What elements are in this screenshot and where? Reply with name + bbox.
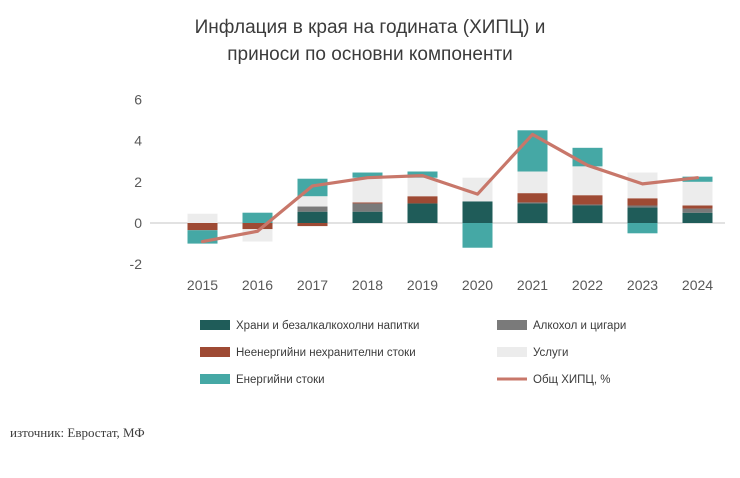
chart-container: Инфлация в края на годината (ХИПЦ) и при… (0, 0, 740, 478)
bar-segment-services (353, 178, 383, 203)
bar-segment-services (298, 196, 328, 206)
legend-item-services[interactable]: Услуги (497, 347, 568, 359)
legend-color-swatch-alcohol_tobacco (497, 320, 527, 330)
bar-segment-services (573, 166, 603, 195)
hicp-line-series (203, 134, 698, 241)
y-tick--2: -2 (130, 256, 143, 272)
bar-segment-services (518, 172, 548, 194)
bar-segment-non_energy_goods (188, 223, 218, 230)
bar-segment-non_energy_goods (353, 202, 383, 203)
bar-group-2016 (243, 213, 273, 242)
bar-segment-food (573, 205, 603, 223)
bar-segment-food (518, 203, 548, 223)
bar-segment-energy (463, 223, 493, 248)
bar-group-2020 (463, 178, 493, 248)
legend-label-hicp_line: Общ ХИПЦ, % (533, 374, 611, 386)
legend-color-swatch-non_energy_goods (200, 347, 230, 357)
legend-color-swatch-services (497, 347, 527, 357)
legend-label-alcohol_tobacco: Алкохол и цигари (533, 320, 626, 332)
y-tick-4: 4 (134, 133, 142, 149)
bar-segment-food (463, 201, 493, 223)
legend-item-food[interactable]: Храни и безалкалкохолни напитки (200, 320, 419, 332)
bar-group-2024 (683, 177, 713, 223)
legend-label-services: Услуги (533, 347, 568, 359)
legend-item-energy[interactable]: Енергийни стоки (200, 374, 325, 386)
x-tick-2017: 2017 (297, 277, 328, 293)
legend-item-alcohol_tobacco[interactable]: Алкохол и цигари (497, 320, 626, 332)
bar-segment-non_energy_goods (298, 223, 328, 226)
legend-color-swatch-food (200, 320, 230, 330)
x-tick-2022: 2022 (572, 277, 603, 293)
y-tick-2: 2 (134, 174, 142, 190)
bar-segment-non_energy_goods (628, 198, 658, 205)
legend-label-non_energy_goods: Неенергийни нехранителни стоки (236, 347, 416, 359)
legend-item-non_energy_goods[interactable]: Неенергийни нехранителни стоки (200, 347, 416, 359)
source-note: източник: Евростат, МФ (10, 425, 145, 441)
legend-item-hicp_line[interactable]: Общ ХИПЦ, % (497, 374, 611, 386)
bar-segment-alcohol_tobacco (683, 209, 713, 213)
legend-label-energy: Енергийни стоки (236, 374, 325, 386)
bar-segment-services (188, 214, 218, 223)
bar-segment-food (683, 213, 713, 223)
x-tick-2018: 2018 (352, 277, 383, 293)
bar-segment-non_energy_goods (408, 196, 438, 203)
x-tick-2023: 2023 (627, 277, 658, 293)
bar-segment-alcohol_tobacco (353, 203, 383, 211)
bar-segment-food (353, 212, 383, 223)
x-axis-tick-labels: 2015201620172018201920202021202220232024 (187, 277, 713, 293)
x-tick-2021: 2021 (517, 277, 548, 293)
x-tick-2024: 2024 (682, 277, 713, 293)
hicp-total-line (203, 134, 698, 241)
y-tick-0: 0 (134, 215, 142, 231)
bar-segment-alcohol_tobacco (573, 204, 603, 205)
bar-segment-services (683, 182, 713, 206)
bar-segment-alcohol_tobacco (518, 202, 548, 203)
y-axis-tick-labels: -20246 (130, 91, 143, 272)
legend-color-swatch-energy (200, 374, 230, 384)
chart-legend: Храни и безалкалкохолни напиткиНеенергий… (200, 320, 626, 386)
y-tick-6: 6 (134, 91, 142, 107)
x-tick-2020: 2020 (462, 277, 493, 293)
bar-segment-food (628, 208, 658, 223)
bar-segment-non_energy_goods (573, 195, 603, 204)
bar-segment-food (408, 203, 438, 223)
bar-segment-alcohol_tobacco (628, 205, 658, 207)
chart-title: Инфлация в края на годината (ХИПЦ) и при… (110, 14, 630, 68)
x-tick-2019: 2019 (407, 277, 438, 293)
bar-segment-non_energy_goods (518, 193, 548, 202)
bar-segment-energy (628, 223, 658, 233)
legend-label-food: Храни и безалкалкохолни напитки (236, 320, 419, 332)
bar-segment-non_energy_goods (683, 205, 713, 208)
bar-segment-alcohol_tobacco (298, 207, 328, 212)
bar-segment-food (298, 212, 328, 223)
x-tick-2015: 2015 (187, 277, 218, 293)
x-tick-2016: 2016 (242, 277, 273, 293)
stacked-bars-group (188, 130, 713, 247)
